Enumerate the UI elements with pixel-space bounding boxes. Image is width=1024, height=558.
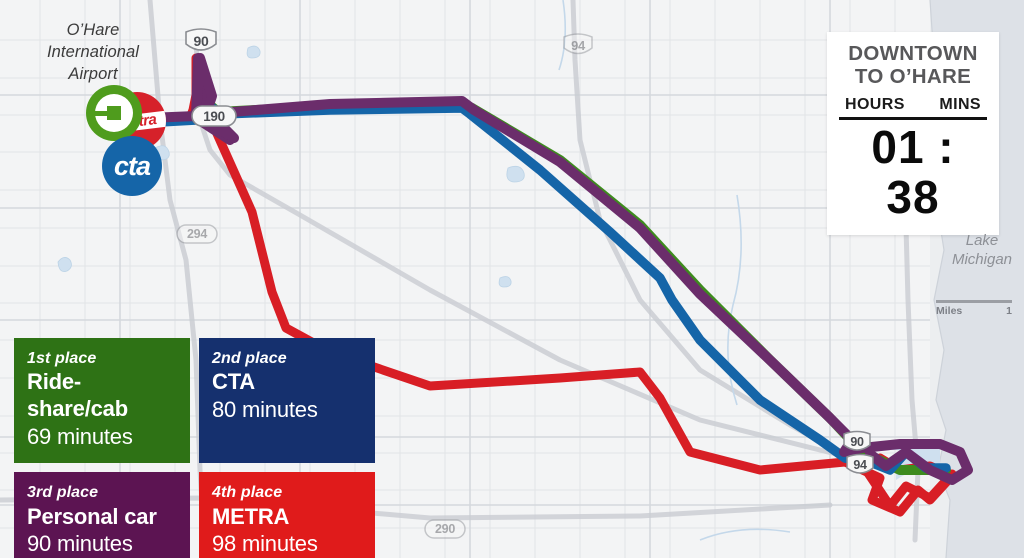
- highway-shield-number: 94: [561, 31, 595, 59]
- legend-row-bottom: 3rd place Personal car 90 minutes 4th pl…: [14, 472, 390, 558]
- legend-time: 80 minutes: [212, 396, 362, 424]
- timer-hours-label: HOURS: [845, 96, 905, 114]
- legend-time: 69 minutes: [27, 423, 177, 451]
- scale-max-label: 1: [1006, 305, 1012, 317]
- cta-logo-text: cta: [114, 153, 150, 180]
- legend-mode: METRA: [212, 504, 362, 531]
- scale-bar-labels: Miles 1: [936, 303, 1012, 317]
- lake-label-line-1: Lake: [944, 232, 1020, 251]
- legend-mode: Personal car: [27, 504, 177, 531]
- ride-share-bar-icon: [95, 111, 111, 116]
- highway-shield-number: 294: [175, 222, 219, 246]
- legend-rank: 1st place: [27, 349, 177, 368]
- highway-shield-i190: 190: [190, 103, 238, 129]
- map-scale-bar: Miles 1: [936, 300, 1012, 317]
- highway-shield-i294: 294: [175, 222, 219, 246]
- legend-rank: 4th place: [212, 483, 362, 502]
- ohare-airport-label: O’Hare International Airport: [18, 20, 168, 85]
- cta-logo: cta: [102, 136, 162, 196]
- lake-label-line-2: Michigan: [944, 251, 1020, 270]
- highway-shield-number: 90: [182, 26, 220, 56]
- legend-time: 98 minutes: [212, 530, 362, 558]
- highway-shield-i290: 290: [423, 517, 467, 541]
- ride-share-logo: [86, 85, 142, 141]
- transit-logos: metra cta: [86, 82, 176, 197]
- scale-unit-label: Miles: [936, 305, 962, 317]
- airport-label-line-2: International: [18, 42, 168, 64]
- highway-shield-number: 190: [190, 103, 238, 129]
- legend-time: 90 minutes: [27, 530, 177, 558]
- lake-michigan-label: Lake Michigan: [944, 232, 1020, 270]
- highway-shield-i90-ohare: 90: [182, 26, 220, 56]
- legend-mode: CTA: [212, 369, 362, 396]
- map-screenshot: O’Hare International Airport metra cta D…: [0, 0, 1024, 558]
- legend-card-personal-car: 3rd place Personal car 90 minutes: [14, 472, 190, 558]
- timer-unit-labels: HOURS MINS: [839, 89, 987, 120]
- timer-panel: DOWNTOWN TO O’HARE HOURS MINS 01 : 38: [827, 32, 999, 235]
- timer-title: DOWNTOWN TO O’HARE: [839, 43, 987, 89]
- legend-row-top: 1st place Ride-share/cab 69 minutes 2nd …: [14, 338, 390, 463]
- legend-rank: 2nd place: [212, 349, 362, 368]
- highway-shield-i94-north: 94: [561, 31, 595, 59]
- timer-value: 01 : 38: [839, 120, 987, 222]
- legend-mode: Ride-share/cab: [27, 369, 177, 423]
- airport-label-line-1: O’Hare: [18, 20, 168, 42]
- legend-rank: 3rd place: [27, 483, 177, 502]
- timer-title-line-2: TO O’HARE: [839, 66, 987, 89]
- highway-shield-number: 94: [844, 452, 876, 478]
- legend-card-cta: 2nd place CTA 80 minutes: [199, 338, 375, 463]
- timer-mins-label: MINS: [939, 96, 981, 114]
- legend-card-ride-share: 1st place Ride-share/cab 69 minutes: [14, 338, 190, 463]
- highway-shield-number: 290: [423, 517, 467, 541]
- legend-card-metra: 4th place METRA 98 minutes: [199, 472, 375, 558]
- timer-title-line-1: DOWNTOWN: [839, 43, 987, 66]
- results-legend: 1st place Ride-share/cab 69 minutes 2nd …: [14, 338, 390, 558]
- highway-shield-i94-downtown: 94: [844, 452, 876, 478]
